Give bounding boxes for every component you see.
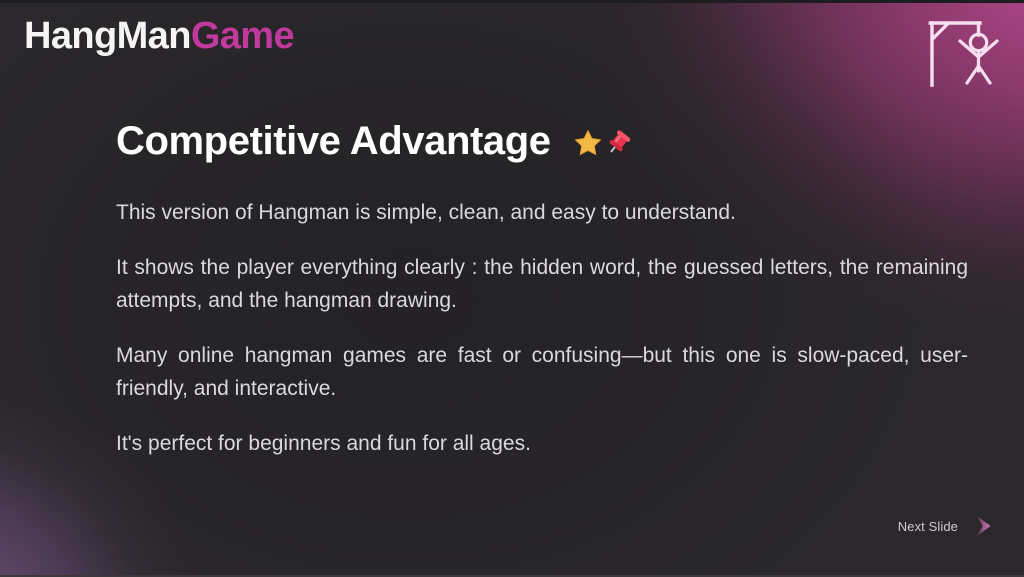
body-paragraph-4: It's perfect for beginners and fun for a… xyxy=(116,427,968,460)
brand-title: HangManGame xyxy=(24,16,294,58)
body-paragraph-3: Many online hangman games are fast or co… xyxy=(116,339,968,405)
next-slide-button[interactable]: Next Slide xyxy=(898,513,998,539)
next-slide-label: Next Slide xyxy=(898,519,958,534)
page-title-row: Competitive Advantage xyxy=(116,118,634,164)
star-emoji xyxy=(573,128,603,158)
body-paragraph-2: It shows the player everything clearly :… xyxy=(116,251,968,317)
slide-root: HangManGame xyxy=(0,0,1024,577)
pushpin-emoji xyxy=(604,128,634,158)
gallows-hangman-icon xyxy=(922,13,1008,91)
page-title: Competitive Advantage xyxy=(116,118,551,164)
heading-emoji-group xyxy=(573,128,634,158)
brand-title-hangman: HangMan xyxy=(24,15,191,57)
chevron-right-icon[interactable] xyxy=(972,513,998,539)
body-paragraph-1: This version of Hangman is simple, clean… xyxy=(116,196,968,229)
slide-top-edge xyxy=(0,0,1024,3)
brand-title-game: Game xyxy=(191,15,294,57)
body-copy: This version of Hangman is simple, clean… xyxy=(116,196,968,460)
